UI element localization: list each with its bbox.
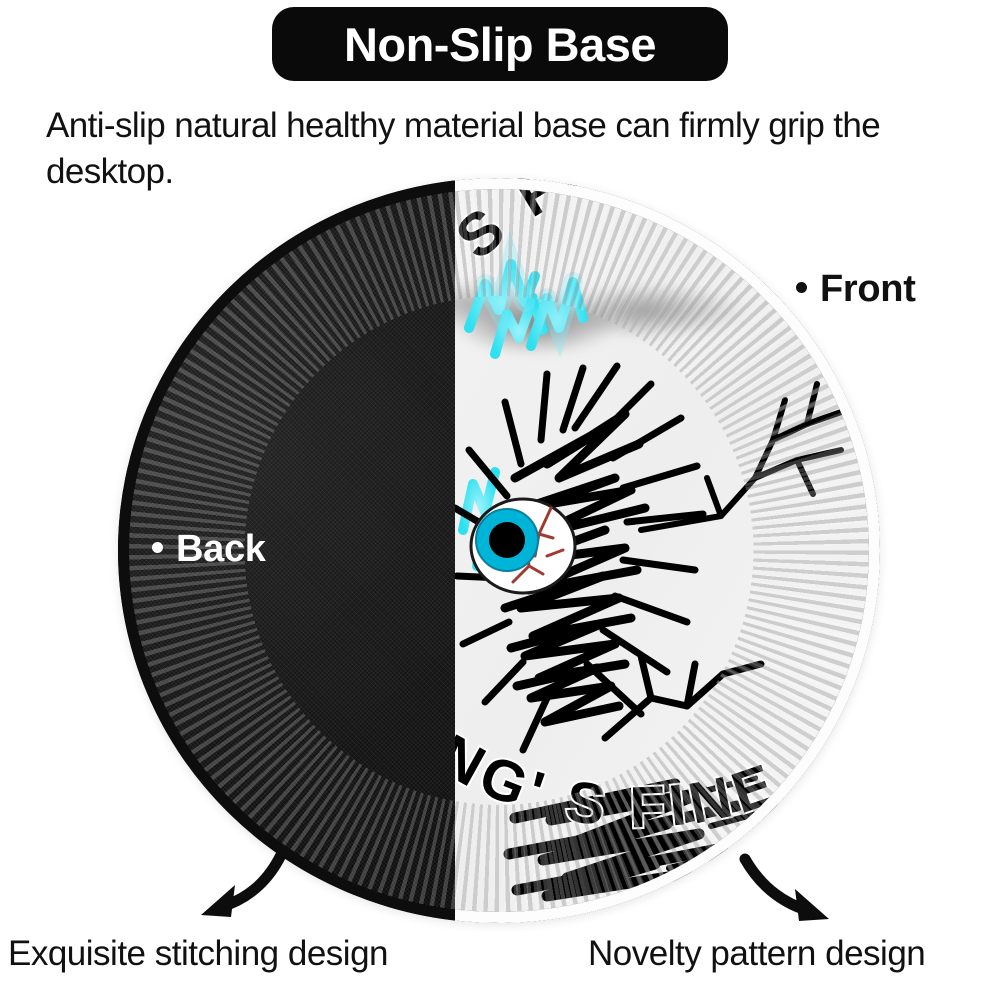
monster-eyeball [471,499,575,593]
callout-back: Back [152,528,266,571]
callout-back-label: Back [176,528,266,570]
curved-arrow-right-icon [735,845,845,925]
callout-front: Front [796,268,916,311]
page-title: Non-Slip Base [344,21,656,68]
callout-front-label: Front [820,268,916,310]
curved-arrow-left-icon [185,845,295,925]
back-bullet-icon [152,542,163,553]
title-badge: Non-Slip Base [272,7,728,81]
caption-pattern: Novelty pattern design [588,934,925,974]
artwork-bottom-arc-text: ING' S FINE [455,711,787,840]
caption-stitching: Exquisite stitching design [8,934,388,974]
front-bullet-icon [796,282,807,293]
product-feature-image: Non-Slip Base Anti-slip natural healthy … [0,0,1000,984]
